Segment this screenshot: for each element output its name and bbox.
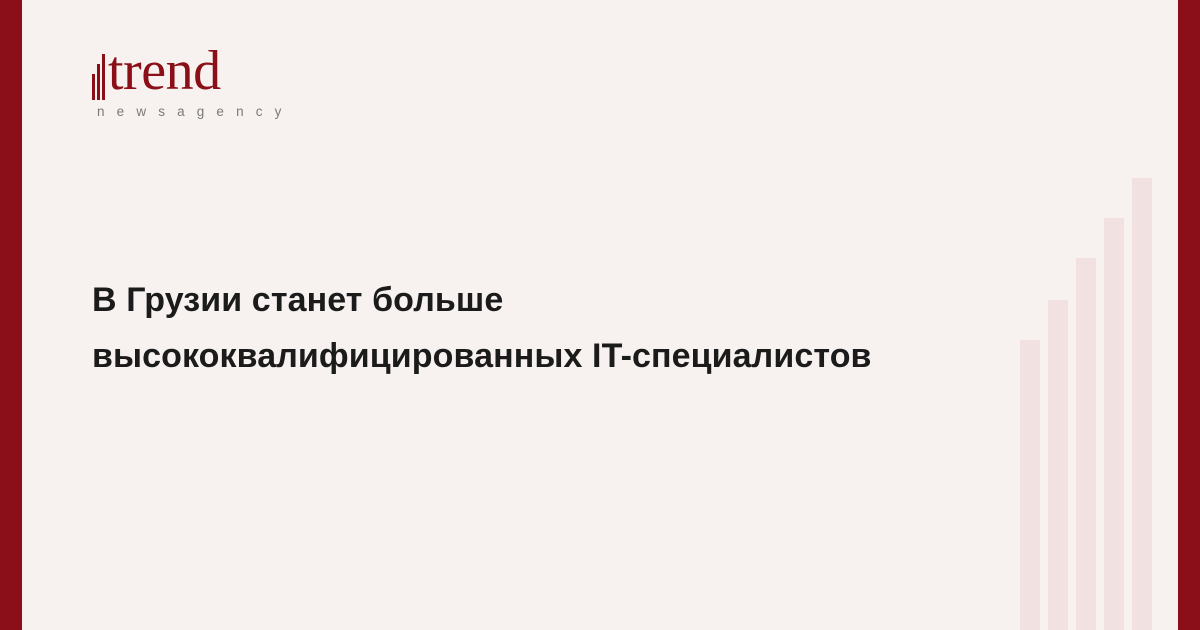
brand-tagline: n e w s a g e n c y xyxy=(97,104,286,119)
decorative-bar xyxy=(1020,340,1040,630)
decorative-bar xyxy=(1076,258,1096,630)
news-share-card: trend n e w s a g e n c y В Грузии стане… xyxy=(0,0,1200,630)
brand-logo-wordmark: trend xyxy=(92,40,392,102)
brand-logo[interactable]: trend n e w s a g e n c y xyxy=(92,40,392,135)
page-title: В Грузии станет больше высококвалифициро… xyxy=(92,272,992,384)
left-accent-bar xyxy=(0,0,22,630)
right-accent-bar xyxy=(1178,0,1200,630)
bar-chart-mark-icon xyxy=(92,48,106,100)
decorative-bar xyxy=(1048,300,1068,630)
decorative-bar xyxy=(1104,218,1124,630)
brand-name: trend xyxy=(108,40,221,102)
decorative-bar xyxy=(1132,178,1152,630)
ascending-bar-chart-icon xyxy=(1016,170,1178,630)
